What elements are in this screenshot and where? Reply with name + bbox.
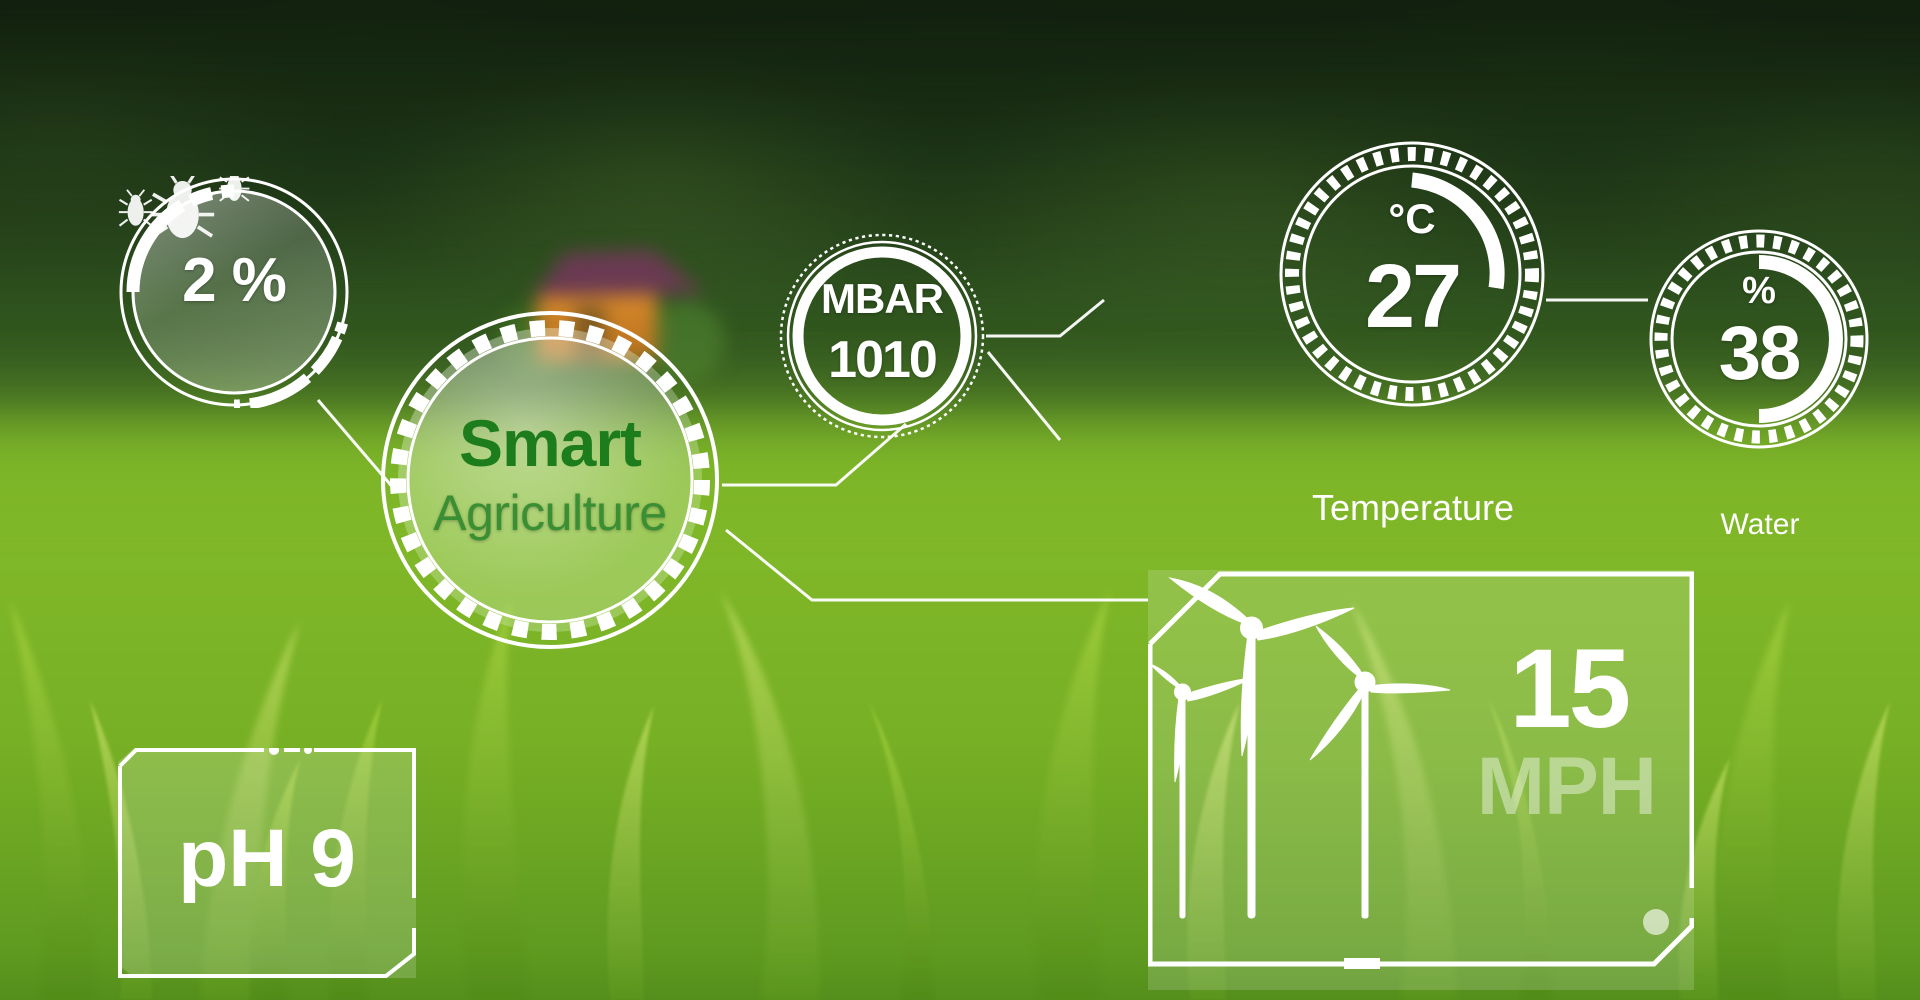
pest-value: 2 %	[118, 250, 350, 312]
smart-dashed-ring	[380, 310, 720, 650]
pressure-unit: MBAR	[778, 278, 986, 320]
smart-title: Smart	[380, 410, 720, 476]
temperature-unit: °C	[1278, 198, 1546, 240]
temperature-label: Temperature	[1268, 487, 1558, 529]
wind-unit: MPH	[1477, 740, 1656, 834]
smart-agriculture-infographic: 2 %	[0, 0, 1920, 1000]
water-unit: %	[1648, 272, 1870, 310]
pressure-value: 1010	[778, 334, 986, 386]
smart-agriculture-badge[interactable]: Smart Agriculture	[380, 310, 720, 650]
ph-value: pH 9	[118, 812, 416, 906]
hud-overlay: 2 %	[0, 0, 1920, 1000]
wind-panel[interactable]: 15 MPH	[1148, 570, 1694, 990]
insect-icon	[118, 176, 264, 238]
water-label: Water	[1630, 508, 1890, 542]
temperature-value: 27	[1278, 252, 1546, 342]
water-value: 38	[1648, 316, 1870, 392]
water-gauge[interactable]: % 38	[1648, 228, 1870, 450]
pressure-gauge[interactable]: MBAR 1010	[778, 232, 986, 440]
smart-subtitle: Agriculture	[380, 488, 720, 538]
pest-gauge[interactable]: 2 %	[118, 176, 350, 408]
ph-panel[interactable]: pH 9	[118, 748, 416, 978]
wind-turbine-icon	[1148, 570, 1478, 920]
wind-value: 15	[1509, 624, 1628, 753]
temperature-gauge[interactable]: °C 27	[1278, 140, 1546, 408]
